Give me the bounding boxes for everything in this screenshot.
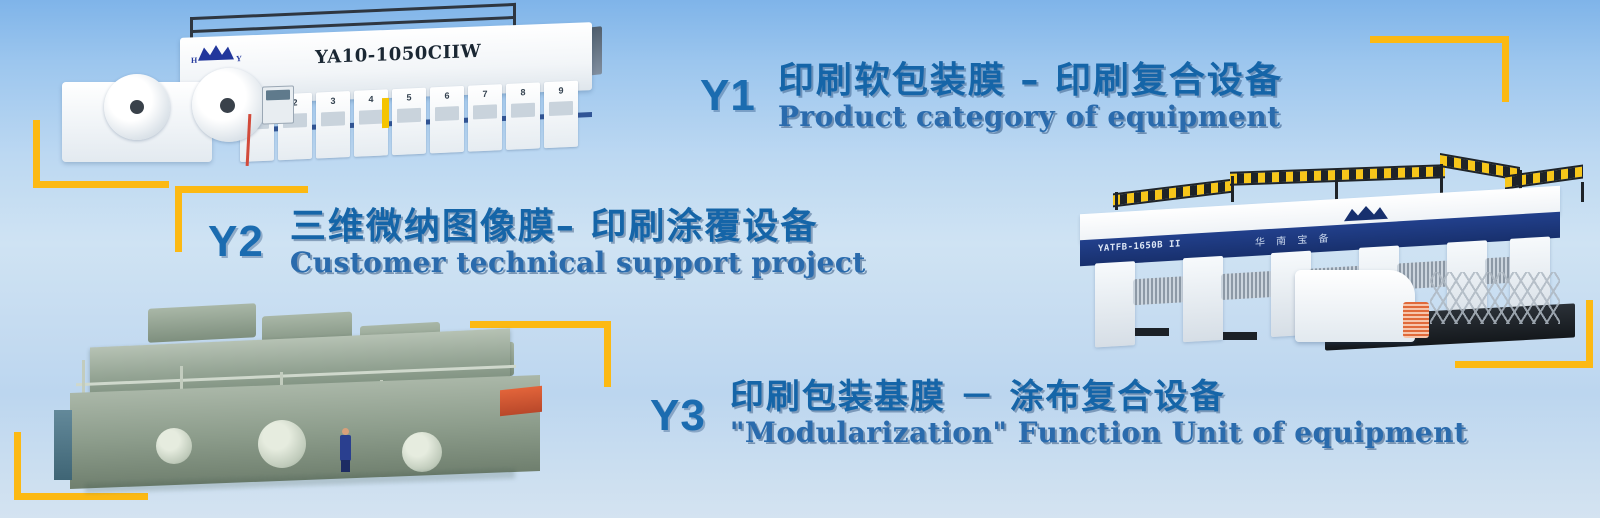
entry-code-y3: Y3 [650, 394, 706, 438]
entry-block-y2: Y2 三维微纳图像膜– 印刷涂覆设备 Customer technical su… [208, 208, 866, 277]
laminator-image: YATFB-1650B II 华 南 宝 备 [985, 152, 1585, 360]
safety-rail-icon [1113, 179, 1233, 208]
entry-block-y3: Y3 印刷包装基膜 － 涂布复合设备 "Modularization" Func… [650, 380, 1467, 447]
coating-red-unit [500, 386, 542, 416]
entry-code-y2: Y2 [208, 220, 264, 264]
print-unit: 5 [392, 88, 426, 156]
print-unit-number: 6 [444, 91, 449, 101]
bracket-y2-vertical [175, 186, 182, 252]
svg-text:Y: Y [236, 54, 242, 63]
press-roll-hub [130, 100, 144, 114]
product-banner: H Y YA10-1050CIIW 1 2 3 4 5 6 7 8 9 [0, 0, 1600, 518]
print-unit-number: 8 [520, 87, 525, 97]
entry-title-en-y3: "Modularization" Function Unit of equipm… [730, 418, 1468, 447]
coating-drum [402, 432, 442, 472]
svg-text:H: H [191, 56, 198, 65]
hy-logo-icon: H Y [190, 41, 246, 65]
press-control-panel [262, 85, 294, 124]
coating-web-guide [54, 410, 72, 480]
print-unit: 6 [430, 86, 464, 154]
print-unit: 9 [544, 81, 578, 149]
press-yellow-marker [382, 98, 389, 128]
print-unit: 8 [506, 82, 540, 150]
print-unit-number: 5 [406, 92, 411, 102]
print-unit-number: 4 [368, 94, 373, 104]
coating-oven-hood [148, 303, 256, 343]
print-unit: 7 [468, 84, 502, 152]
press-roll-hub [220, 98, 235, 113]
bracket-top-right-horizontal [1370, 36, 1509, 43]
print-unit-number: 3 [330, 96, 335, 106]
operator-figure [340, 428, 351, 472]
entry-title-cn-y2: 三维微纳图像膜– 印刷涂覆设备 [290, 208, 866, 246]
gravure-press-image: H Y YA10-1050CIIW 1 2 3 4 5 6 7 8 9 [62, 2, 592, 170]
bracket-bottom-left-horizontal [14, 493, 148, 500]
bracket-top-left-horizontal [33, 181, 169, 188]
entry-title-cn-y3: 印刷包装基膜 － 涂布复合设备 [730, 380, 1468, 416]
bracket-top-left-vertical [33, 120, 40, 188]
print-unit-number: 7 [482, 89, 487, 99]
entry-block-y1: Y1 印刷软包装膜 – 印刷复合设备 Product category of e… [700, 62, 1283, 131]
print-unit: 3 [316, 91, 350, 159]
bracket-right-vertical [1586, 300, 1593, 368]
laminator-coil-icon [1403, 302, 1429, 338]
bracket-bottom-left-vertical [14, 432, 21, 500]
laminator-scissor-lift [1430, 272, 1560, 324]
laminator-rewind-unit [1295, 270, 1415, 342]
entry-title-en-y2: Customer technical support project [290, 248, 866, 277]
entry-title-en-y1: Product category of equipment [778, 102, 1283, 131]
laminator-brand-text: 华 南 宝 备 [1255, 229, 1333, 249]
coating-drum [156, 428, 192, 464]
laminator-logo-icon [1340, 202, 1392, 225]
bracket-y2-horizontal [175, 186, 308, 193]
entry-code-y1: Y1 [700, 74, 756, 118]
print-unit-number: 9 [558, 85, 563, 95]
bracket-right-horizontal [1455, 361, 1593, 368]
coating-drum [258, 420, 306, 468]
bracket-mid-vertical [604, 321, 611, 387]
coating-line-image [30, 300, 575, 490]
laminator-model-label: YATFB-1650B II [1098, 239, 1181, 254]
bracket-top-right-vertical [1502, 36, 1509, 102]
entry-title-cn-y1: 印刷软包装膜 – 印刷复合设备 [778, 62, 1283, 100]
